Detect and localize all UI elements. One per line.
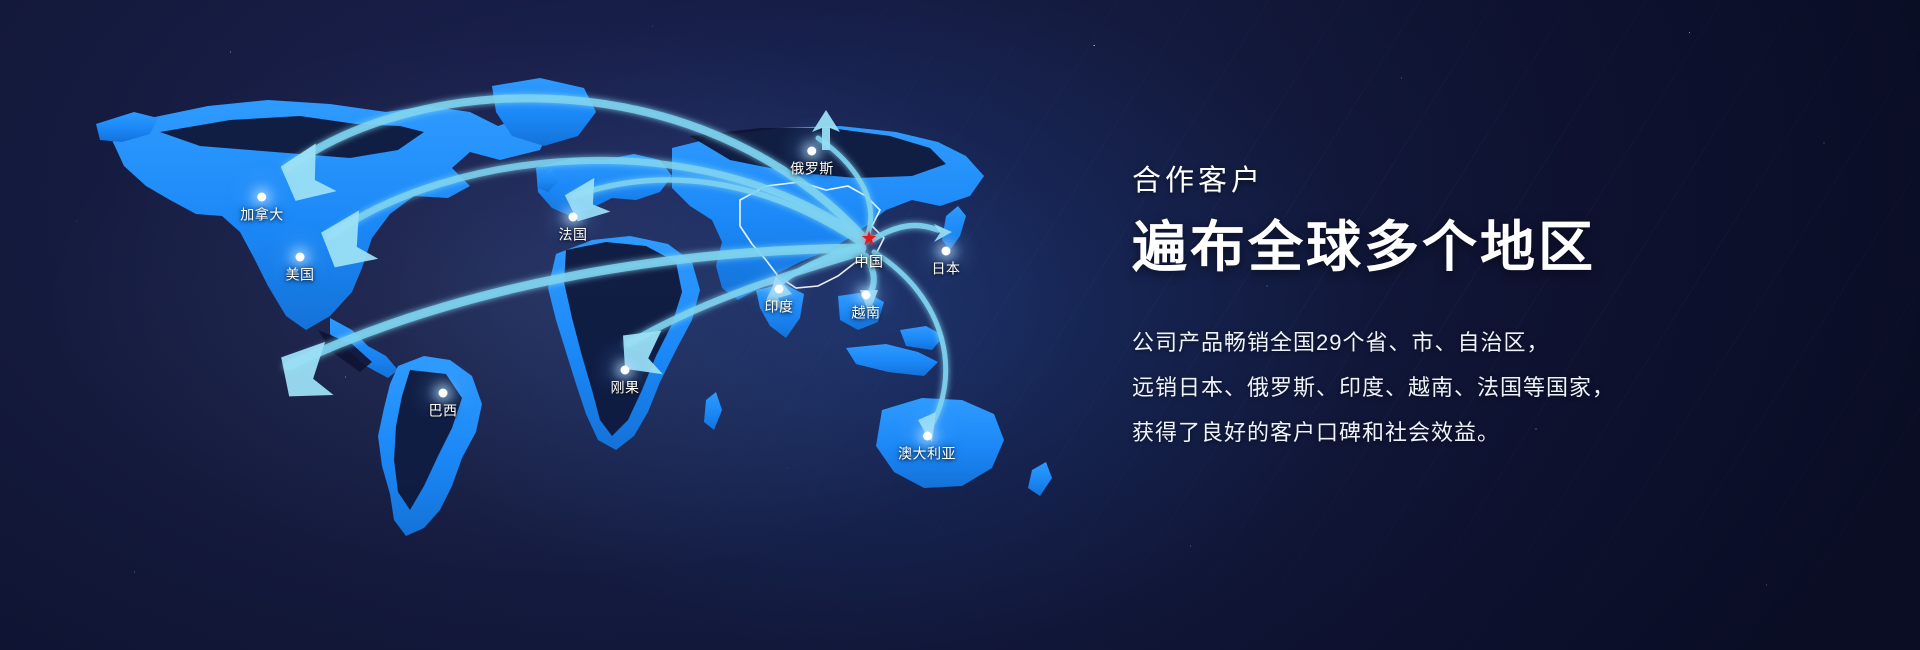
map-marker-dot (775, 285, 784, 294)
map-point-label: 法国 (559, 227, 588, 244)
red-star-icon: ★ (855, 230, 884, 249)
map-point-label: 俄罗斯 (790, 161, 834, 178)
map-point-label: 越南 (852, 305, 881, 322)
map-point-france[interactable]: 法国 (559, 213, 588, 244)
map-point-japan[interactable]: 日本 (932, 247, 961, 278)
map-point-label: 刚果 (611, 380, 640, 397)
map-point-label: 美国 (286, 267, 315, 284)
map-point-india[interactable]: 印度 (765, 285, 794, 316)
map-marker-dot (296, 253, 305, 262)
map-point-label: 印度 (765, 299, 794, 316)
map-marker-dot (862, 291, 871, 300)
map-marker-dot (621, 366, 630, 375)
map-point-brazil[interactable]: 巴西 (429, 389, 458, 420)
map-marker-dot (258, 193, 267, 202)
map-marker-dot (923, 432, 932, 441)
map-point-label: 中国 (855, 254, 884, 271)
map-marker-dot (942, 247, 951, 256)
map-marker-dot (569, 213, 578, 222)
banner-headline: 遍布全球多个地区 (1132, 212, 1872, 282)
banner-copy: 合作客户 遍布全球多个地区 公司产品畅销全国29个省、市、自治区， 远销日本、俄… (1132, 160, 1872, 455)
banner-eyebrow: 合作客户 (1132, 160, 1872, 202)
map-marker-dot (808, 147, 817, 156)
paragraph-line: 远销日本、俄罗斯、印度、越南、法国等国家， (1132, 365, 1872, 410)
map-point-label: 日本 (932, 261, 961, 278)
map-point-usa[interactable]: 美国 (286, 253, 315, 284)
map-point-label: 澳大利亚 (898, 446, 956, 463)
paragraph-line: 公司产品畅销全国29个省、市、自治区， (1132, 320, 1872, 365)
banner-paragraph: 公司产品畅销全国29个省、市、自治区， 远销日本、俄罗斯、印度、越南、法国等国家… (1132, 320, 1872, 455)
map-point-canada[interactable]: 加拿大 (240, 193, 284, 224)
map-point-congo[interactable]: 刚果 (611, 366, 640, 397)
map-marker-dot (439, 389, 448, 398)
map-point-russia[interactable]: 俄罗斯 (790, 147, 834, 178)
world-map: 加拿大 美国 巴西 法国 刚果 俄罗斯 印度 ★ 中国 (0, 0, 1160, 650)
map-point-china[interactable]: ★ 中国 (855, 230, 884, 271)
world-map-banner: 加拿大 美国 巴西 法国 刚果 俄罗斯 印度 ★ 中国 (0, 0, 1920, 650)
map-point-australia[interactable]: 澳大利亚 (898, 432, 956, 463)
paragraph-line: 获得了良好的客户口碑和社会效益。 (1132, 410, 1872, 455)
map-point-label: 巴西 (429, 403, 458, 420)
map-point-label: 加拿大 (240, 207, 284, 224)
world-map-svg (0, 0, 1160, 650)
map-point-vietnam[interactable]: 越南 (852, 291, 881, 322)
